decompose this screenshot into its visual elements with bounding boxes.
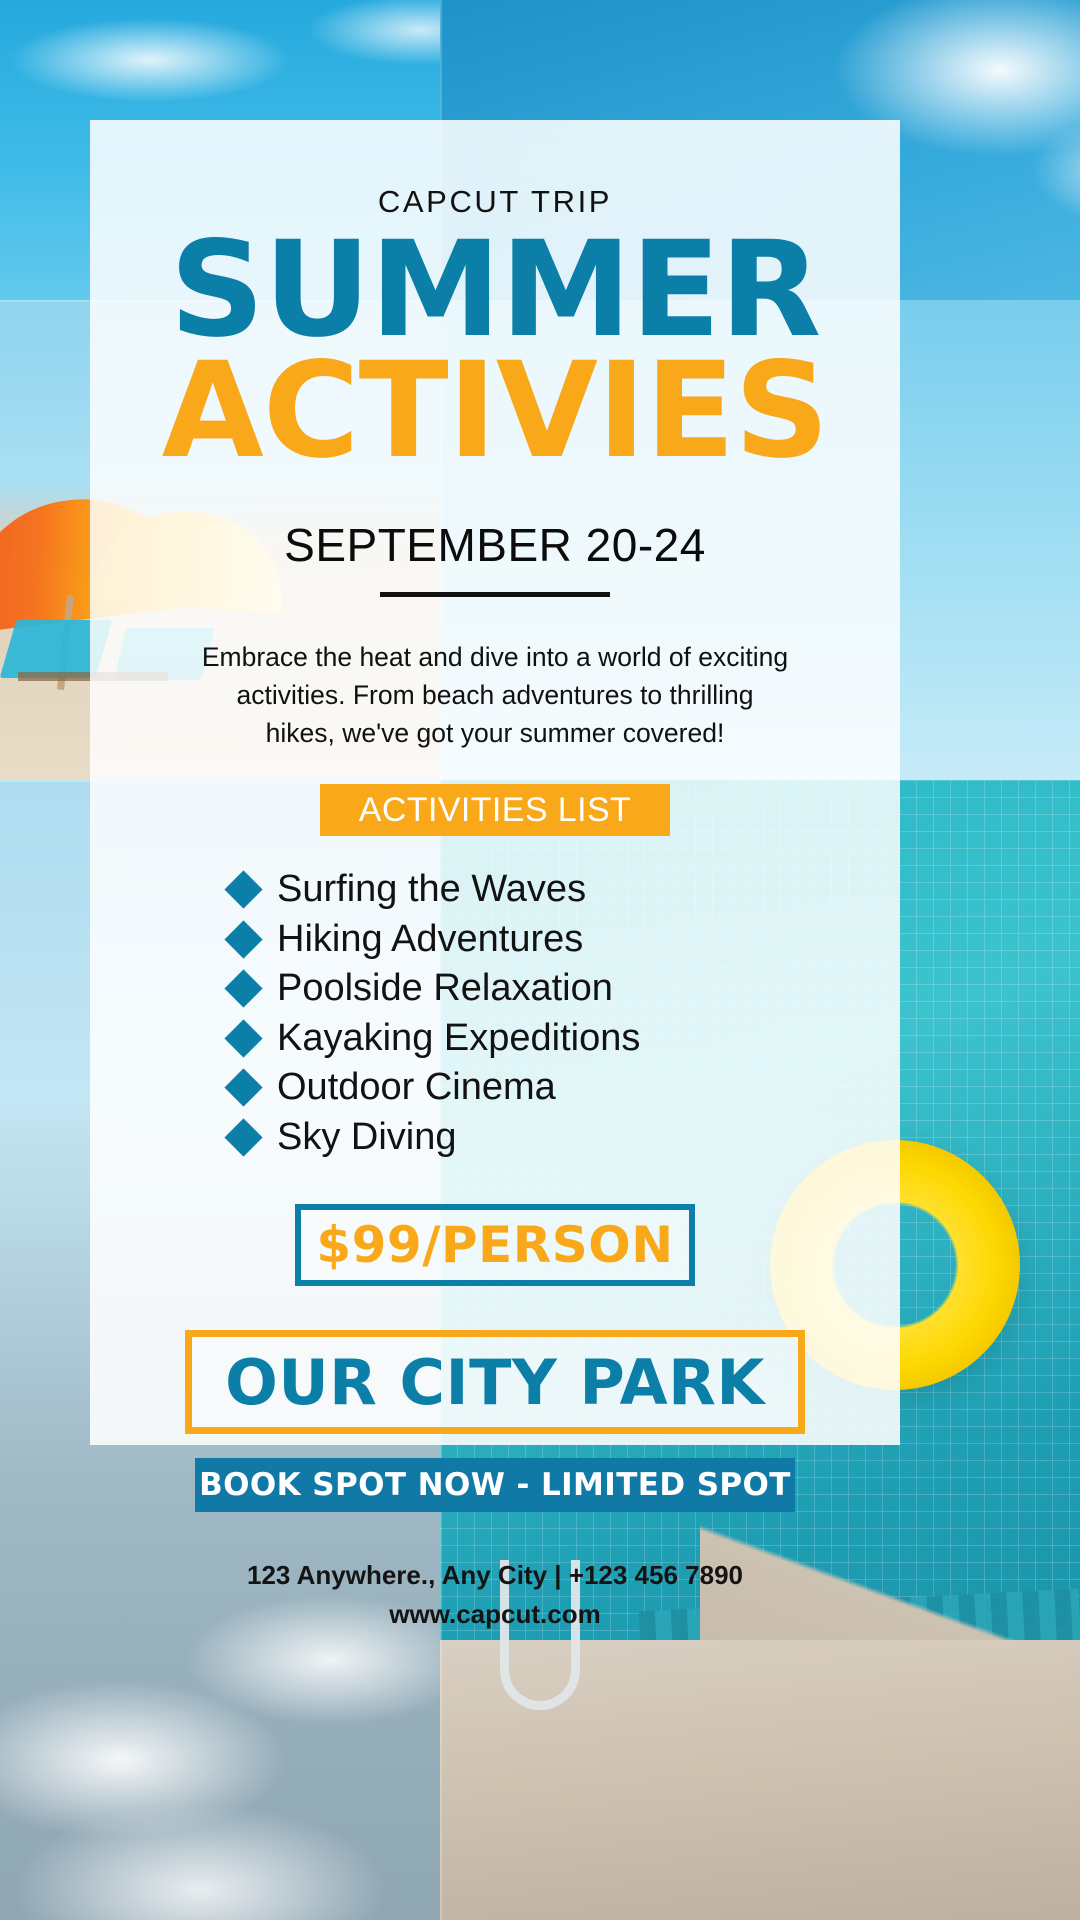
list-item: Kayaking Expeditions [230, 1017, 900, 1060]
event-date: SEPTEMBER 20-24 [90, 518, 900, 572]
location-label: OUR CITY PARK [225, 1346, 765, 1419]
date-divider [380, 592, 610, 597]
activities-list-banner: ACTIVITIES LIST [320, 784, 670, 836]
diamond-icon [224, 920, 262, 958]
book-spot-button-label: BOOK SPOT NOW - LIMITED SPOT [199, 1467, 791, 1503]
list-item: Outdoor Cinema [230, 1066, 900, 1109]
diamond-icon [224, 969, 262, 1007]
description-text: Embrace the heat and dive into a world o… [200, 639, 790, 752]
list-item: Hiking Adventures [230, 918, 900, 961]
activities-list-banner-label: ACTIVITIES LIST [359, 791, 631, 830]
list-item-label: Poolside Relaxation [277, 967, 613, 1010]
diamond-icon [224, 870, 262, 908]
page-title-secondary: ACTIVIES [90, 352, 900, 471]
list-item-label: Hiking Adventures [277, 918, 583, 961]
list-item-label: Kayaking Expeditions [277, 1017, 640, 1060]
list-item-label: Outdoor Cinema [277, 1066, 556, 1109]
price-label: $99/PERSON [316, 1216, 673, 1274]
footer-address-phone: 123 Anywhere., Any City | +123 456 7890 [90, 1556, 900, 1595]
list-item-label: Sky Diving [277, 1116, 457, 1159]
book-spot-button[interactable]: BOOK SPOT NOW - LIMITED SPOT [195, 1458, 795, 1512]
diamond-icon [224, 1118, 262, 1156]
activities-list: Surfing the Waves Hiking Adventures Pool… [230, 868, 900, 1158]
page-title-primary: SUMMER [90, 234, 900, 348]
poster-content: CAPCUT TRIP SUMMER ACTIVIES SEPTEMBER 20… [90, 120, 900, 1445]
diamond-icon [224, 1069, 262, 1107]
footer-contact: 123 Anywhere., Any City | +123 456 7890 … [90, 1556, 900, 1634]
list-item: Poolside Relaxation [230, 967, 900, 1010]
list-item: Surfing the Waves [230, 868, 900, 911]
footer-website: www.capcut.com [90, 1595, 900, 1634]
location-box: OUR CITY PARK [185, 1330, 805, 1434]
price-box: $99/PERSON [295, 1204, 695, 1286]
list-item-label: Surfing the Waves [277, 868, 586, 911]
list-item: Sky Diving [230, 1116, 900, 1159]
diamond-icon [224, 1019, 262, 1057]
